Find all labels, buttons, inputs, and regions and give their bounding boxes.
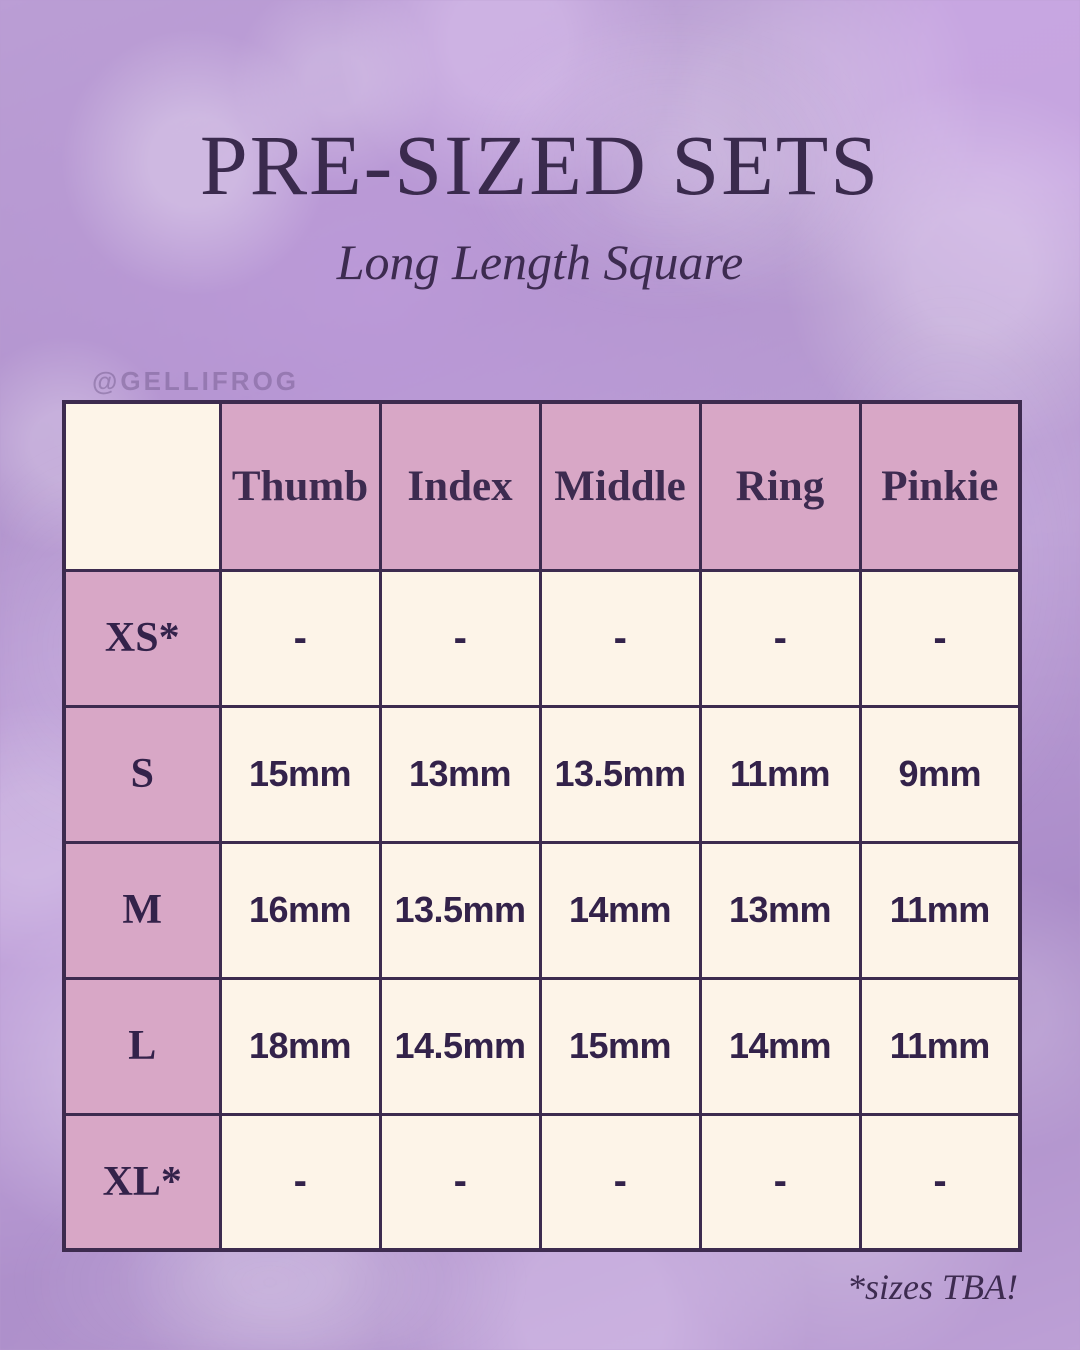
table-header: Thumb Index Middle Ring Pinkie — [64, 402, 1020, 570]
page-subtitle: Long Length Square — [0, 237, 1080, 287]
cell-xl-middle: - — [540, 1114, 700, 1250]
cell-m-index: 13.5mm — [380, 842, 540, 978]
cell-xs-index: - — [380, 570, 540, 706]
sizes-tba-note: *sizes TBA! — [0, 1266, 1018, 1308]
cell-s-index: 13mm — [380, 706, 540, 842]
table-body: XS* - - - - - S 15mm 13mm 13.5mm 11mm 9m… — [64, 570, 1020, 1250]
cell-xl-index: - — [380, 1114, 540, 1250]
column-header-pinkie: Pinkie — [860, 402, 1020, 570]
cell-xs-ring: - — [700, 570, 860, 706]
table-row: XL* - - - - - — [64, 1114, 1020, 1250]
row-header-l: L — [64, 978, 220, 1114]
cell-xs-thumb: - — [220, 570, 380, 706]
cell-l-ring: 14mm — [700, 978, 860, 1114]
cell-l-index: 14.5mm — [380, 978, 540, 1114]
column-header-ring: Ring — [700, 402, 860, 570]
cell-s-middle: 13.5mm — [540, 706, 700, 842]
cell-s-ring: 11mm — [700, 706, 860, 842]
row-header-xl: XL* — [64, 1114, 220, 1250]
column-header-index: Index — [380, 402, 540, 570]
page-title: PRE-SIZED SETS — [0, 122, 1080, 208]
cell-m-pinkie: 11mm — [860, 842, 1020, 978]
row-header-s: S — [64, 706, 220, 842]
table-header-row: Thumb Index Middle Ring Pinkie — [64, 402, 1020, 570]
table-row: S 15mm 13mm 13.5mm 11mm 9mm — [64, 706, 1020, 842]
cell-xl-pinkie: - — [860, 1114, 1020, 1250]
column-header-middle: Middle — [540, 402, 700, 570]
cell-l-middle: 15mm — [540, 978, 700, 1114]
cell-l-pinkie: 11mm — [860, 978, 1020, 1114]
cell-s-pinkie: 9mm — [860, 706, 1020, 842]
table-corner-cell — [64, 402, 220, 570]
cell-xl-ring: - — [700, 1114, 860, 1250]
column-header-thumb: Thumb — [220, 402, 380, 570]
cell-s-thumb: 15mm — [220, 706, 380, 842]
cell-l-thumb: 18mm — [220, 978, 380, 1114]
cell-xs-middle: - — [540, 570, 700, 706]
cell-m-middle: 14mm — [540, 842, 700, 978]
cell-m-thumb: 16mm — [220, 842, 380, 978]
cell-m-ring: 13mm — [700, 842, 860, 978]
cell-xl-thumb: - — [220, 1114, 380, 1250]
row-header-xs: XS* — [64, 570, 220, 706]
row-header-m: M — [64, 842, 220, 978]
table-row: XS* - - - - - — [64, 570, 1020, 706]
watermark-handle: @GELLIFROG — [92, 366, 299, 397]
table-row: M 16mm 13.5mm 14mm 13mm 11mm — [64, 842, 1020, 978]
size-chart-table: Thumb Index Middle Ring Pinkie XS* - - -… — [62, 400, 1022, 1252]
table-row: L 18mm 14.5mm 15mm 14mm 11mm — [64, 978, 1020, 1114]
cell-xs-pinkie: - — [860, 570, 1020, 706]
